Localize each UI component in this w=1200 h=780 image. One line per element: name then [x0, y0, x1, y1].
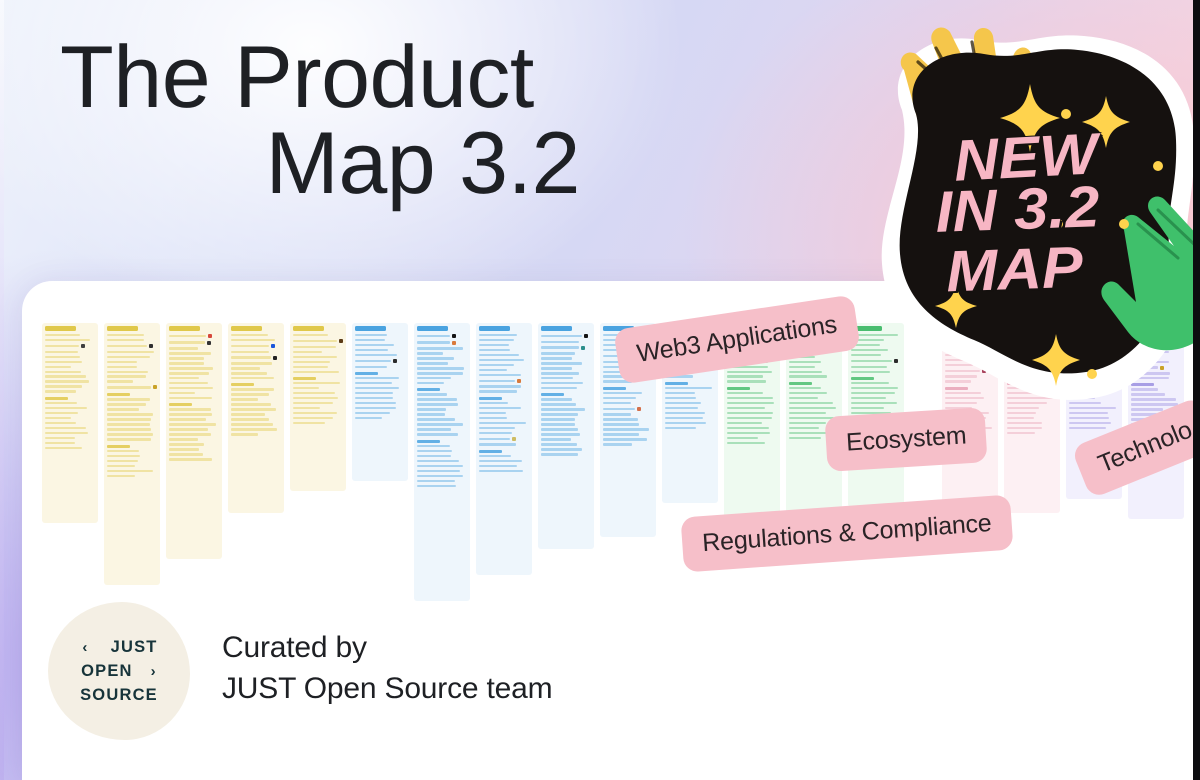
map-row-text — [789, 375, 827, 377]
map-row-text — [541, 398, 572, 400]
map-row-text — [107, 413, 153, 415]
map-row — [789, 402, 839, 404]
map-row — [231, 418, 281, 420]
map-row — [479, 344, 529, 346]
map-row — [665, 422, 715, 424]
map-row — [231, 372, 281, 374]
map-row — [417, 352, 467, 354]
map-row-text — [355, 354, 397, 356]
map-row-text — [169, 448, 199, 450]
map-row-text — [417, 341, 450, 343]
map-row-text — [169, 438, 198, 440]
map-row — [789, 392, 839, 394]
map-row — [355, 387, 405, 389]
map-row-text — [355, 377, 399, 379]
map-row-logo-chip — [512, 437, 516, 441]
map-row-text — [231, 334, 268, 336]
map-row — [541, 403, 591, 405]
map-row — [479, 374, 529, 376]
map-row — [231, 351, 281, 353]
map-row-text — [107, 398, 150, 400]
map-row — [417, 413, 467, 415]
map-row — [727, 412, 777, 414]
map-row-text — [107, 408, 139, 410]
map-column-header-chip — [479, 326, 510, 331]
map-row — [603, 413, 653, 415]
map-column[interactable] — [476, 323, 532, 575]
map-row-text — [789, 397, 818, 399]
map-row — [107, 361, 157, 363]
map-row-text — [231, 362, 272, 364]
map-row — [169, 397, 219, 399]
map-row — [789, 407, 839, 409]
map-row — [107, 344, 157, 348]
map-row — [789, 397, 839, 399]
map-row — [293, 402, 343, 404]
map-row-text — [417, 465, 463, 467]
map-row — [107, 366, 157, 368]
map-row — [727, 422, 777, 424]
map-row — [169, 438, 219, 440]
map-row-text — [355, 334, 387, 336]
map-row — [603, 428, 653, 430]
map-row-text — [665, 427, 696, 429]
map-row — [1007, 427, 1057, 429]
map-row — [293, 371, 343, 373]
map-row-text — [727, 432, 770, 434]
map-row — [727, 437, 777, 439]
map-row-text — [169, 347, 198, 349]
map-row-text — [541, 346, 579, 348]
map-row — [479, 412, 529, 414]
map-row — [293, 334, 343, 336]
map-row — [231, 413, 281, 415]
map-row-text — [789, 392, 827, 394]
map-row — [541, 423, 591, 425]
map-row-logo-chip — [452, 334, 456, 338]
map-row — [169, 433, 219, 435]
map-column[interactable] — [166, 323, 222, 559]
map-row-logo-chip — [149, 344, 153, 348]
map-row-text — [1069, 412, 1108, 414]
map-row — [727, 417, 777, 419]
map-row-text — [293, 417, 333, 419]
map-row — [541, 362, 591, 364]
map-row — [479, 455, 529, 457]
category-tag-ecosystem[interactable]: Ecosystem — [824, 407, 988, 472]
map-row — [665, 392, 715, 394]
map-row — [231, 362, 281, 364]
map-row — [541, 433, 591, 435]
map-row — [665, 407, 715, 409]
map-row-logo-chip — [271, 344, 275, 348]
map-column[interactable] — [290, 323, 346, 491]
map-row-text — [45, 356, 80, 358]
map-row — [169, 448, 219, 450]
map-row — [107, 334, 157, 336]
map-row-text — [541, 433, 580, 435]
map-row — [45, 344, 95, 348]
map-row — [45, 375, 95, 377]
map-row — [169, 367, 219, 369]
map-row-text — [541, 362, 582, 364]
map-row-text — [169, 397, 212, 399]
map-row-text — [417, 335, 450, 337]
map-row-text — [541, 335, 582, 337]
map-row-text — [727, 380, 766, 382]
map-row — [355, 417, 405, 419]
map-row-text — [231, 393, 269, 395]
map-row-text — [789, 412, 826, 414]
map-row-text — [107, 375, 146, 377]
map-column-subheader — [107, 445, 130, 448]
map-row-text — [45, 417, 71, 419]
map-column-rows — [169, 334, 219, 461]
credit-line-1: Curated by — [222, 628, 552, 669]
map-row-logo-chip — [452, 341, 456, 345]
map-row-text — [169, 428, 208, 430]
map-row-text — [789, 437, 821, 439]
map-row-text — [1007, 412, 1036, 414]
map-row — [293, 387, 343, 389]
map-row-text — [45, 385, 82, 387]
map-row-text — [231, 345, 269, 347]
map-row — [727, 432, 777, 434]
map-column-subheader — [541, 393, 564, 396]
map-row-text — [603, 423, 639, 425]
map-row-text — [479, 359, 524, 361]
map-row — [417, 433, 467, 435]
map-row — [541, 398, 591, 400]
map-row — [417, 418, 467, 420]
map-row — [479, 359, 529, 361]
map-row-text — [417, 372, 463, 374]
map-row-text — [107, 470, 153, 472]
map-row — [665, 397, 715, 399]
logo-word-source: SOURCE — [80, 686, 158, 705]
map-column-rows — [479, 334, 529, 472]
map-row — [417, 470, 467, 472]
map-row-text — [169, 443, 204, 445]
map-row — [479, 402, 529, 404]
page-title: The Product Map 3.2 — [60, 34, 580, 206]
map-row-logo-chip — [581, 346, 585, 350]
map-row — [231, 398, 281, 400]
map-row — [169, 453, 219, 455]
map-row — [45, 432, 95, 434]
map-row — [231, 423, 281, 425]
map-row — [355, 377, 405, 379]
map-row — [603, 418, 653, 420]
map-row-text — [107, 460, 138, 462]
map-row-text — [603, 413, 631, 415]
map-row-text — [603, 397, 636, 399]
map-row-text — [293, 371, 339, 373]
map-row — [45, 390, 95, 392]
map-row — [231, 403, 281, 405]
map-row — [355, 354, 405, 356]
map-row-text — [231, 372, 267, 374]
map-row-text — [603, 402, 631, 404]
map-row — [417, 428, 467, 430]
map-row-text — [417, 480, 455, 482]
map-row — [107, 408, 157, 410]
map-row — [45, 402, 95, 404]
map-row-text — [231, 413, 265, 415]
map-row-text — [169, 387, 213, 389]
map-row — [45, 442, 95, 444]
map-row-text — [479, 438, 510, 440]
map-row-text — [355, 382, 392, 384]
map-row-text — [107, 418, 151, 420]
map-row-text — [169, 367, 213, 369]
map-column-header-chip — [231, 326, 262, 331]
map-row — [293, 361, 343, 363]
map-row-logo-chip — [339, 339, 343, 343]
map-row-text — [45, 412, 78, 414]
map-column-rows — [45, 334, 95, 449]
map-row-text — [169, 458, 212, 460]
chevron-left-icon: ‹ — [82, 639, 88, 656]
map-row — [45, 361, 95, 363]
map-row-text — [231, 408, 276, 410]
map-row — [169, 392, 219, 394]
map-row-text — [231, 377, 274, 379]
map-row-text — [603, 438, 647, 440]
map-row-text — [417, 403, 458, 405]
map-row-text — [355, 360, 391, 362]
map-row-text — [479, 374, 521, 376]
map-row-text — [169, 362, 204, 364]
map-row-text — [293, 397, 338, 399]
map-row — [293, 351, 343, 353]
map-row — [107, 465, 157, 467]
map-row-text — [541, 423, 575, 425]
map-row — [479, 465, 529, 467]
map-row-text — [417, 485, 456, 487]
map-row — [417, 450, 467, 452]
map-row-text — [479, 390, 517, 392]
map-row-text — [293, 334, 328, 336]
map-row-text — [417, 450, 452, 452]
map-row — [169, 423, 219, 425]
map-row — [107, 470, 157, 472]
map-row-text — [107, 334, 144, 336]
map-row-text — [355, 344, 394, 346]
map-row-text — [727, 442, 765, 444]
map-row-text — [293, 422, 325, 424]
map-row-text — [479, 465, 517, 467]
map-row-text — [789, 387, 821, 389]
map-row-text — [169, 453, 203, 455]
map-row-text — [45, 422, 76, 424]
map-row — [107, 385, 157, 389]
map-row-text — [107, 345, 147, 347]
map-row-text — [231, 428, 277, 430]
map-row-text — [293, 412, 337, 414]
map-column[interactable] — [538, 323, 594, 549]
map-column-subheader — [231, 383, 254, 386]
map-row-text — [1007, 432, 1035, 434]
map-row-text — [727, 422, 762, 424]
map-row — [107, 475, 157, 477]
map-row — [603, 392, 653, 394]
map-row — [107, 433, 157, 435]
map-row-text — [107, 450, 139, 452]
map-row — [293, 366, 343, 368]
map-row-text — [293, 351, 322, 353]
map-row — [231, 433, 281, 435]
map-column-subheader — [417, 440, 440, 443]
map-column-rows — [355, 334, 405, 419]
map-row-text — [355, 349, 388, 351]
map-row-text — [107, 380, 133, 382]
map-row-text — [45, 345, 79, 347]
map-row — [789, 375, 839, 377]
map-row — [1007, 417, 1057, 419]
map-row — [417, 393, 467, 395]
map-row-text — [417, 455, 451, 457]
map-row — [293, 412, 343, 414]
map-column-subheader — [479, 450, 502, 453]
map-row-text — [541, 413, 578, 415]
map-row — [541, 377, 591, 379]
map-row-text — [603, 433, 639, 435]
map-row — [45, 380, 95, 382]
map-column-header-chip — [541, 326, 572, 331]
map-row — [479, 437, 529, 441]
map-row-text — [417, 393, 447, 395]
map-row-text — [417, 408, 446, 410]
map-row — [541, 341, 591, 343]
logo-row-2: OPEN › — [81, 662, 157, 681]
map-column[interactable] — [104, 323, 160, 585]
map-row-text — [541, 357, 572, 359]
map-column-rows — [107, 334, 157, 477]
map-row — [417, 377, 467, 379]
map-row-text — [107, 403, 146, 405]
page-title-line1: The Product — [60, 27, 534, 126]
map-row-text — [479, 334, 517, 336]
map-row-text — [45, 339, 90, 341]
map-row-logo-chip — [207, 341, 211, 345]
map-row — [45, 366, 95, 368]
map-row-text — [231, 351, 269, 353]
map-row — [479, 369, 529, 371]
map-row-text — [293, 387, 319, 389]
map-row-text — [45, 432, 88, 434]
map-row — [107, 450, 157, 452]
map-row — [107, 380, 157, 382]
map-row-text — [541, 443, 577, 445]
map-row — [479, 349, 529, 351]
map-row-text — [355, 412, 390, 414]
map-column[interactable] — [352, 323, 408, 481]
map-row — [479, 417, 529, 419]
map-row — [293, 392, 343, 394]
map-column[interactable] — [228, 323, 284, 513]
logo-word-just: JUST — [111, 638, 158, 657]
left-edge-strip — [0, 0, 4, 780]
map-row-logo-chip — [393, 359, 397, 363]
map-column-header-chip — [107, 326, 138, 331]
map-row — [727, 442, 777, 444]
map-column[interactable] — [414, 323, 470, 601]
map-row-text — [417, 470, 460, 472]
map-row — [293, 356, 343, 358]
map-row-text — [45, 437, 75, 439]
right-edge-strip — [1193, 0, 1200, 780]
map-row — [355, 397, 405, 399]
map-row — [1069, 417, 1119, 419]
map-row-text — [231, 403, 271, 405]
map-row — [479, 470, 529, 472]
map-row-text — [107, 455, 140, 457]
map-row-text — [727, 397, 773, 399]
map-row-text — [479, 369, 507, 371]
map-row — [45, 422, 95, 424]
map-row-text — [45, 361, 82, 363]
map-row — [231, 344, 281, 348]
map-row — [541, 334, 591, 338]
map-column[interactable] — [42, 323, 98, 523]
map-row — [789, 371, 839, 373]
map-row-text — [169, 392, 195, 394]
map-row-text — [107, 366, 137, 368]
map-row-text — [727, 392, 763, 394]
map-row — [45, 356, 95, 358]
map-row-text — [665, 392, 695, 394]
map-row-text — [1069, 427, 1106, 429]
map-row — [355, 339, 405, 341]
logo-row-3: SOURCE — [80, 686, 158, 705]
map-row-text — [541, 418, 575, 420]
map-row-text — [45, 371, 81, 373]
map-row-text — [789, 366, 815, 368]
map-row-text — [417, 398, 457, 400]
map-row — [417, 455, 467, 457]
map-row — [169, 377, 219, 379]
new-in-3-2-sticker[interactable]: NEW IN 3.2 MAP — [862, 18, 1200, 410]
map-row-text — [231, 367, 260, 369]
map-row-text — [727, 437, 758, 439]
map-row-text — [541, 367, 572, 369]
map-row — [541, 387, 591, 389]
map-row — [45, 417, 95, 419]
map-row-text — [107, 433, 153, 435]
map-row-text — [1069, 417, 1109, 419]
just-open-source-logo[interactable]: ‹ JUST OPEN › SOURCE — [48, 602, 190, 740]
map-row — [1069, 412, 1119, 414]
chevron-right-icon: › — [151, 663, 157, 680]
map-row — [169, 334, 219, 338]
map-row-text — [727, 417, 772, 419]
map-row-text — [45, 407, 87, 409]
map-row-text — [665, 417, 703, 419]
map-row-text — [45, 351, 78, 353]
map-row — [231, 367, 281, 369]
map-row — [479, 364, 529, 366]
map-row-text — [1007, 427, 1042, 429]
map-row-text — [45, 427, 86, 429]
map-row-text — [479, 455, 511, 457]
map-row-text — [293, 346, 336, 348]
map-row-text — [541, 372, 579, 374]
map-row — [603, 438, 653, 440]
map-row-text — [169, 382, 208, 384]
map-row — [417, 382, 467, 384]
map-row — [417, 403, 467, 405]
